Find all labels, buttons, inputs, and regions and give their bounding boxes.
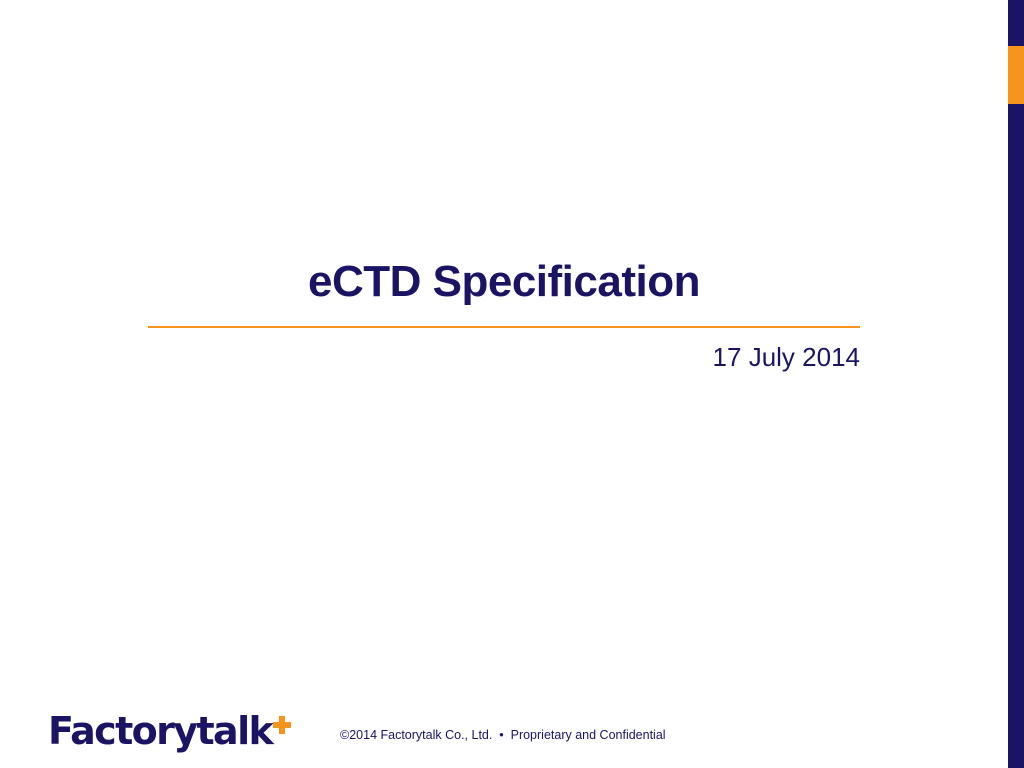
logo-wordmark: Factorytalk	[48, 712, 272, 750]
copyright-notice: ©2014 Factorytalk Co., Ltd. • Proprietar…	[340, 728, 666, 742]
right-edge-bar	[1008, 0, 1024, 768]
plus-icon	[273, 716, 291, 734]
title-block: eCTD Specification 17 July 2014	[148, 258, 860, 373]
factorytalk-logo: Factorytalk	[48, 706, 291, 750]
title-divider	[148, 326, 860, 328]
slide-date: 17 July 2014	[148, 342, 860, 373]
page-title: eCTD Specification	[148, 258, 860, 306]
slide-canvas: eCTD Specification 17 July 2014 Factoryt…	[0, 0, 1024, 768]
right-edge-accent-block	[1008, 46, 1024, 104]
